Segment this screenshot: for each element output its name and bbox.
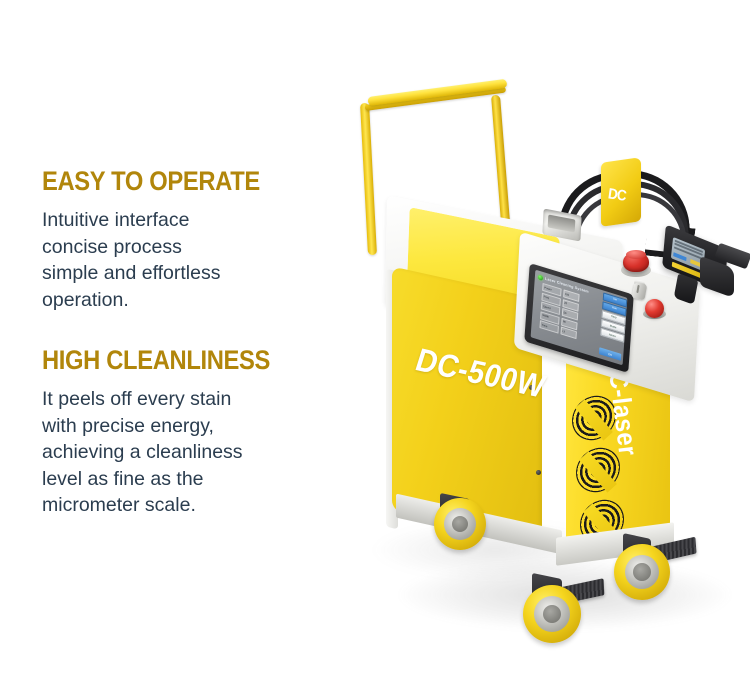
cable-holder-plate: DC bbox=[601, 157, 641, 227]
emergency-stop-cap[interactable] bbox=[626, 250, 646, 259]
panel-screw bbox=[536, 470, 541, 475]
gun-screen-indicator-blue bbox=[673, 252, 686, 261]
screen-parameter-grid: Power 100 Freq 20 Speed 50 Width 80 Time bbox=[539, 283, 601, 352]
handle-post-left bbox=[360, 103, 377, 255]
caster-hub-center bbox=[452, 516, 468, 532]
caster-hub-center bbox=[633, 563, 651, 581]
power-led-icon bbox=[538, 274, 543, 280]
indicator-lamp bbox=[645, 299, 664, 318]
screen-confirm-button[interactable]: OK bbox=[599, 347, 621, 361]
caster-hub-center bbox=[543, 605, 561, 623]
product-feature-graphic: EASY TO OPERATE Intuitive interface conc… bbox=[0, 0, 750, 687]
brand-logo-dc: DC bbox=[607, 185, 627, 204]
screen-button-column: Set Run Stop Mode Menu bbox=[600, 292, 625, 343]
laser-cleaning-machine-render: DC DC-500W DC-laser Laser Cleaning bbox=[0, 0, 750, 687]
